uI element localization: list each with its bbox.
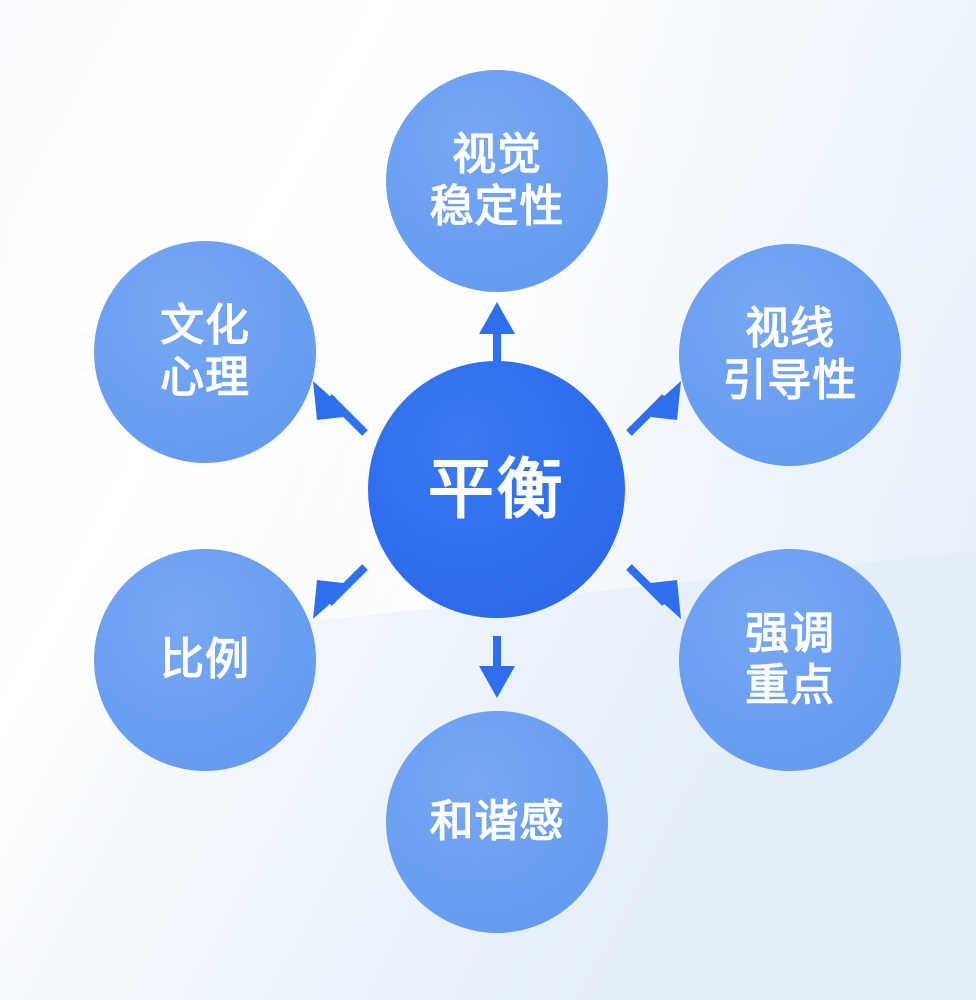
node-sightline-guidance[interactable]: 视线 引导性 [679, 244, 901, 466]
arrow-up-right-icon [629, 381, 681, 433]
node-proportion[interactable]: 比例 [94, 549, 316, 771]
arrow-down-right-icon [629, 567, 681, 619]
arrow-down-icon [479, 636, 515, 698]
radial-diagram-canvas: 视觉 稳定性 视线 引导性 强调 重点 和谐感 比例 文化 心理 平衡 [0, 0, 976, 1000]
node-emphasis-focus[interactable]: 强调 重点 [679, 549, 901, 771]
node-label: 强调 重点 [745, 608, 835, 712]
node-label: 视线 引导性 [723, 303, 858, 407]
node-cultural-psychology[interactable]: 文化 心理 [94, 241, 316, 463]
arrow-down-left-icon [313, 567, 365, 619]
node-visual-stability[interactable]: 视觉 稳定性 [386, 70, 608, 292]
arrow-up-icon [479, 302, 515, 366]
center-node-label: 平衡 [428, 451, 565, 529]
node-center-balance[interactable]: 平衡 [368, 361, 625, 618]
arrow-up-left-icon [313, 381, 365, 433]
node-label: 文化 心理 [160, 300, 250, 404]
node-label: 比例 [160, 634, 250, 686]
node-harmony[interactable]: 和谐感 [386, 711, 608, 933]
node-label: 视觉 稳定性 [430, 129, 565, 233]
node-label: 和谐感 [430, 796, 565, 848]
